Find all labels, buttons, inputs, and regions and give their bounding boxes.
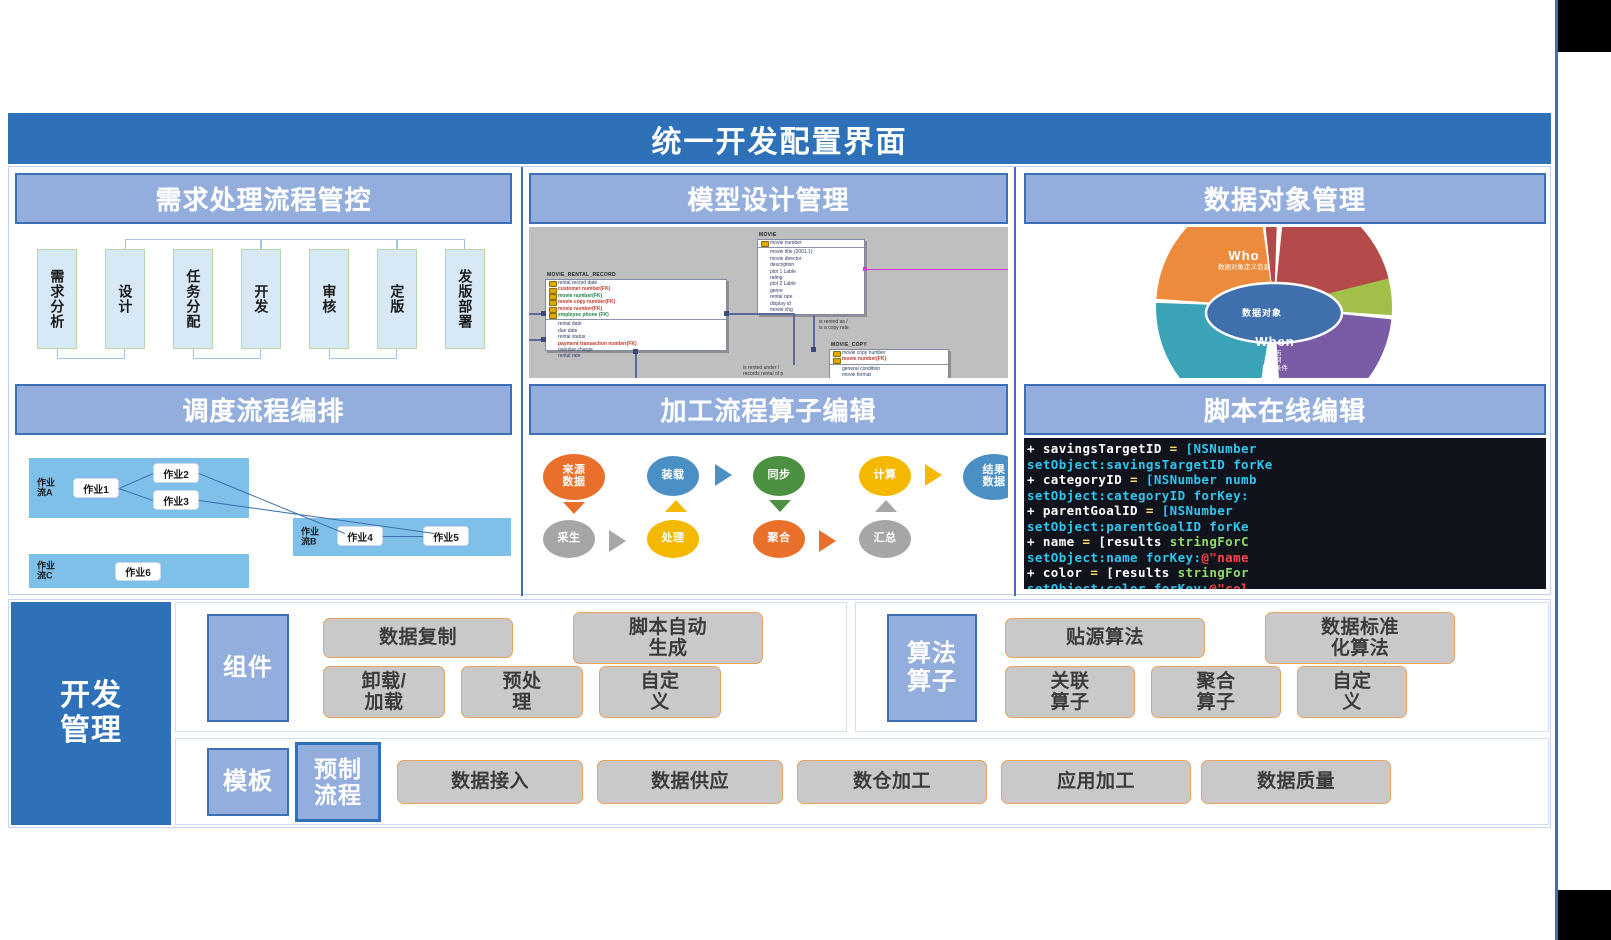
- dev-item-label: 数据复制: [379, 627, 457, 648]
- top-panels: 需求处理流程管控 需求分析设计任务分配开发审核定版发版部署 调度流程编排 作业流…: [8, 166, 1551, 595]
- dev-category-label: 组件: [223, 654, 273, 682]
- code-token: [NSNumber: [1162, 503, 1233, 518]
- code-line-1: + savingsTargetID = [NSNumber: [1027, 441, 1546, 457]
- code-token: @"col: [1209, 581, 1249, 590]
- job-flow: 作业流A作业流B作业流C作业1作业2作业3作业4作业5作业6: [15, 438, 512, 589]
- bottom-black-bar: [1558, 890, 1611, 940]
- dev-management-content: 组件数据复制脚本自动生成卸载/加载预处理自定义算法算子贴源算法数据标准化算法关联…: [175, 602, 1549, 825]
- er-key-field: movie number: [758, 240, 864, 246]
- operator-node-label: 聚合: [768, 533, 791, 545]
- section-header-requirement[interactable]: 需求处理流程管控: [15, 173, 512, 224]
- job-flow-group-label: 作业流B: [301, 527, 327, 548]
- dev-item-pill[interactable]: 自定义: [599, 666, 721, 718]
- requirement-step-1[interactable]: 需求分析: [37, 249, 77, 349]
- pie-center-label: 数据对象: [1242, 306, 1282, 319]
- requirement-connector: [125, 239, 261, 249]
- requirement-connector: [57, 349, 125, 359]
- code-token: +: [1027, 472, 1043, 487]
- dev-item-pill[interactable]: 脚本自动生成: [573, 612, 763, 664]
- section-header-operator[interactable]: 加工流程算子编辑: [529, 384, 1008, 435]
- code-token: parentGoalID: [1043, 503, 1138, 518]
- dev-subcategory-label: 预制流程: [314, 756, 362, 809]
- dev-item-label: 数据标准化算法: [1321, 617, 1399, 660]
- dev-item-label: 关联算子: [1050, 671, 1089, 714]
- job-flow-group-A[interactable]: 作业流A: [29, 458, 249, 518]
- code-token: +: [1027, 503, 1043, 518]
- requirement-step-7[interactable]: 发版部署: [445, 249, 485, 349]
- requirement-connector: [261, 239, 397, 249]
- column-model: 模型设计管理 MOVIE_RENTAL_RECORDrental record …: [521, 167, 1016, 596]
- requirement-flow: 需求分析设计任务分配开发审核定版发版部署: [15, 227, 512, 378]
- code-line-9: + color = [results stringFor: [1027, 565, 1546, 581]
- requirement-step-label: 开发: [254, 284, 269, 314]
- requirement-step-label: 定版: [390, 284, 405, 314]
- data-object-pie-canvas: 数据对象Who数据对象定义信息What数据构成数据用法数据对象加工加工血缘图Wh…: [1024, 227, 1546, 378]
- job-flow-edge: [383, 536, 423, 537]
- dev-item-pill[interactable]: 贴源算法: [1005, 618, 1205, 658]
- pie-chart-svg: [1024, 227, 1524, 378]
- requirement-step-label: 审核: [322, 284, 337, 314]
- operator-node-7[interactable]: 计算: [859, 456, 911, 496]
- job-node-2[interactable]: 作业2: [153, 463, 199, 483]
- code-token: +: [1027, 534, 1043, 549]
- dev-template-label: 数据接入: [451, 771, 529, 792]
- code-line-3: + categoryID = [NSNumber numb: [1027, 472, 1546, 488]
- code-line-8: setObject:name forKey:@"name: [1027, 550, 1546, 566]
- code-token: categoryID: [1043, 472, 1122, 487]
- er-table[interactable]: movie numbermovie title (2001.1)movie di…: [757, 239, 865, 315]
- operator-node-label: 同步: [768, 470, 791, 482]
- operator-node-label: 来源数据: [563, 465, 586, 488]
- code-line-2: setObject:savingsTargetID forKe: [1027, 457, 1546, 473]
- code-token: =: [1122, 472, 1146, 487]
- code-token: setObject:name forKey:: [1027, 550, 1201, 565]
- requirement-step-label: 设计: [118, 284, 133, 314]
- operator-arrow-right: [609, 530, 626, 552]
- dev-category-2[interactable]: 算法算子: [887, 614, 977, 722]
- requirement-step-6[interactable]: 定版: [377, 249, 417, 349]
- code-token: +: [1027, 565, 1043, 580]
- operator-flow-canvas: 来源数据采生装载处理同步聚合计算汇总结果数据: [529, 438, 1008, 589]
- operator-flow: 来源数据采生装载处理同步聚合计算汇总结果数据: [529, 438, 1008, 589]
- dev-template-label: 数据供应: [651, 771, 729, 792]
- section-header-dataobject[interactable]: 数据对象管理: [1024, 173, 1546, 224]
- dev-template-pill[interactable]: 数据供应: [597, 760, 783, 804]
- operator-node-label: 装载: [662, 470, 685, 482]
- requirement-step-5[interactable]: 审核: [309, 249, 349, 349]
- er-table-title: MOVIE_COPY: [831, 342, 867, 348]
- dev-item-label: 脚本自动生成: [629, 617, 707, 660]
- operator-node-4[interactable]: 处理: [647, 520, 699, 558]
- operator-arrow-down: [563, 502, 585, 514]
- dev-category-label: 模板: [223, 768, 273, 796]
- dev-management-panel: 开发管理 组件数据复制脚本自动生成卸载/加载预处理自定义算法算子贴源算法数据标准…: [8, 599, 1551, 828]
- diagram-frame: 统一开发配置界面 需求处理流程管控 需求分析设计任务分配开发审核定版发版部署 调…: [8, 113, 1551, 828]
- er-connector-dot: [541, 311, 546, 316]
- code-line-6: setObject:parentGoalID forKe: [1027, 519, 1546, 535]
- dev-item-pill[interactable]: 数据标准化算法: [1265, 612, 1455, 664]
- operator-node-1[interactable]: 来源数据: [543, 454, 605, 500]
- er-relationship-line: [635, 351, 637, 378]
- job-flow-canvas: 作业流A作业流B作业流C作业1作业2作业3作业4作业5作业6: [15, 438, 512, 589]
- column-requirement: 需求处理流程管控 需求分析设计任务分配开发审核定版发版部署 调度流程编排 作业流…: [9, 167, 518, 596]
- code-token: setObject:savingsTargetID forKe: [1027, 457, 1273, 472]
- operator-node-label: 计算: [874, 470, 897, 482]
- section-header-model[interactable]: 模型设计管理: [529, 173, 1008, 224]
- er-diagram: MOVIE_RENTAL_RECORDrental record datecus…: [529, 227, 1008, 378]
- dev-item-pill[interactable]: 数据复制: [323, 618, 513, 658]
- script-code-editor[interactable]: + savingsTargetID = [NSNumbersetObject:s…: [1024, 438, 1546, 589]
- code-token: +: [1027, 441, 1043, 456]
- er-separator: [758, 247, 864, 248]
- code-token: setObject:parentGoalID forKe: [1027, 519, 1249, 534]
- er-table-title: MOVIE: [759, 232, 777, 238]
- operator-node-label: 采生: [558, 533, 581, 545]
- main-header-title: 统一开发配置界面: [652, 117, 908, 161]
- er-key-field: movie number(FK): [830, 356, 948, 362]
- er-table[interactable]: rental record datecustomer number(FK)mov…: [545, 279, 727, 351]
- code-token: =: [1083, 565, 1107, 580]
- job-flow-group-label: 作业流A: [37, 478, 63, 499]
- section-title-requirement: 需求处理流程管控: [155, 180, 371, 217]
- code-token: stringFor: [1178, 565, 1249, 580]
- er-connector-dot: [541, 337, 546, 342]
- er-separator: [830, 364, 948, 365]
- code-line-4: setObject:categoryID forKey:: [1027, 488, 1546, 504]
- requirement-step-4[interactable]: 开发: [241, 249, 281, 349]
- requirement-step-label: 任务分配: [186, 269, 201, 329]
- er-edge-label: is rented under /records rental of p: [743, 365, 783, 377]
- operator-arrow-right: [925, 464, 942, 486]
- requirement-step-2[interactable]: 设计: [105, 249, 145, 349]
- er-key-field: employee phone (FK): [546, 312, 726, 318]
- dev-item-label: 自定义: [1332, 671, 1371, 714]
- dev-template-pill[interactable]: 数仓加工: [797, 760, 987, 804]
- dev-item-pill[interactable]: 聚合算子: [1151, 666, 1281, 718]
- right-edge-line: [1555, 0, 1558, 940]
- er-connector-dot: [811, 347, 816, 352]
- operator-arrow-right: [819, 530, 836, 552]
- er-magenta-line: [865, 269, 1008, 270]
- code-token: [NSNumber numb: [1146, 472, 1257, 487]
- section-header-schedule[interactable]: 调度流程编排: [15, 384, 512, 435]
- job-node-3[interactable]: 作业3: [153, 490, 199, 510]
- job-node-4[interactable]: 作业4: [337, 526, 383, 546]
- dev-category-label: 算法算子: [907, 640, 957, 695]
- operator-arrow-right: [715, 464, 732, 486]
- code-token: [NSNumber: [1186, 441, 1257, 456]
- operator-arrow-up: [875, 500, 897, 512]
- code-token: setObject:categoryID forKey:: [1027, 488, 1249, 503]
- code-token: setObject:color forKey:: [1027, 581, 1209, 590]
- requirement-step-label: 发版部署: [458, 269, 473, 329]
- dev-item-pill[interactable]: 关联算子: [1005, 666, 1135, 718]
- code-token: savingsTargetID: [1043, 441, 1162, 456]
- script-editor-canvas: + savingsTargetID = [NSNumbersetObject:s…: [1024, 438, 1546, 589]
- dev-template-pill[interactable]: 数据接入: [397, 760, 583, 804]
- code-token: name: [1043, 534, 1075, 549]
- code-token: color: [1043, 565, 1083, 580]
- dev-template-pill[interactable]: 应用加工: [1001, 760, 1191, 804]
- dev-item-pill[interactable]: 自定义: [1297, 666, 1407, 718]
- operator-arrow-down: [769, 500, 791, 512]
- er-relationship-line: [727, 313, 795, 315]
- requirement-connector: [397, 239, 465, 249]
- requirement-flow-canvas: 需求分析设计任务分配开发审核定版发版部署: [15, 227, 512, 378]
- code-token: =: [1162, 441, 1186, 456]
- code-line-7: + name = [results stringForC: [1027, 534, 1546, 550]
- requirement-step-3[interactable]: 任务分配: [173, 249, 213, 349]
- data-object-pie-chart: 数据对象Who数据对象定义信息What数据构成数据用法数据对象加工加工血缘图Wh…: [1024, 227, 1546, 378]
- code-line-5: + parentGoalID = [NSNumber: [1027, 503, 1546, 519]
- er-connector-dot: [724, 311, 729, 316]
- dev-template-label: 应用加工: [1057, 771, 1135, 792]
- section-title-operator: 加工流程算子编辑: [660, 391, 876, 428]
- job-node-6[interactable]: 作业6: [115, 562, 161, 581]
- code-token: =: [1138, 503, 1162, 518]
- dev-item-label: 自定义: [640, 671, 679, 714]
- section-title-script: 脚本在线编辑: [1204, 391, 1366, 428]
- code-token: stringForC: [1170, 534, 1249, 549]
- section-title-schedule: 调度流程编排: [182, 391, 344, 428]
- code-token: =: [1075, 534, 1099, 549]
- er-connector-dot: [633, 349, 638, 354]
- operator-node-label: 处理: [662, 533, 685, 545]
- dev-item-label: 卸载/加载: [362, 671, 407, 714]
- section-header-script[interactable]: 脚本在线编辑: [1024, 384, 1546, 435]
- er-relationship-line: [793, 313, 795, 365]
- section-title-model: 模型设计管理: [687, 180, 849, 217]
- operator-node-2[interactable]: 采生: [543, 520, 595, 558]
- dev-template-label: 数仓加工: [853, 771, 931, 792]
- operator-node-5[interactable]: 同步: [753, 456, 805, 496]
- dev-category-template[interactable]: 模板: [207, 748, 289, 816]
- slide-root: 统一开发配置界面 需求处理流程管控 需求分析设计任务分配开发审核定版发版部署 调…: [0, 0, 1611, 940]
- operator-node-8[interactable]: 汇总: [859, 520, 911, 558]
- job-node-5[interactable]: 作业5: [423, 526, 469, 546]
- er-edge-label: is rented as /is a copy rate: [819, 319, 849, 331]
- dev-item-label: 聚合算子: [1196, 671, 1235, 714]
- job-flow-group-B[interactable]: 作业流B: [293, 518, 511, 556]
- operator-node-label: 汇总: [874, 533, 897, 545]
- requirement-step-label: 需求分析: [50, 269, 65, 329]
- dev-category-1[interactable]: 组件: [207, 614, 289, 722]
- main-header: 统一开发配置界面: [8, 113, 1551, 164]
- dev-title-lines: 开发管理: [60, 679, 122, 748]
- job-node-1[interactable]: 作业1: [73, 478, 119, 498]
- code-token: @"name: [1201, 550, 1249, 565]
- dev-subcategory-preset-flow[interactable]: 预制流程: [295, 742, 381, 822]
- er-diagram-canvas: MOVIE_RENTAL_RECORDrental record datecus…: [529, 227, 1008, 378]
- er-field: movie format: [830, 372, 948, 378]
- operator-node-6[interactable]: 聚合: [753, 520, 805, 558]
- dev-template-pill[interactable]: 数据质量: [1201, 760, 1391, 804]
- job-flow-group-label: 作业流C: [37, 561, 63, 582]
- operator-node-9[interactable]: 结果数据: [963, 454, 1008, 500]
- code-token: [results: [1106, 565, 1177, 580]
- er-relationship-line: [813, 315, 815, 349]
- dev-item-pill[interactable]: 卸载/加载: [323, 666, 445, 718]
- code-token: [results: [1098, 534, 1169, 549]
- er-table[interactable]: movie copy numbermovie number(FK)general…: [829, 349, 949, 378]
- top-black-bar: [1558, 0, 1611, 52]
- er-separator: [546, 319, 726, 320]
- dev-item-label: 贴源算法: [1066, 627, 1144, 648]
- dev-template-label: 数据质量: [1257, 771, 1335, 792]
- column-dataobject: 数据对象管理 数据对象Who数据对象定义信息What数据构成数据用法数据对象加工…: [1018, 167, 1552, 596]
- requirement-connector: [329, 349, 397, 359]
- operator-arrow-up: [665, 500, 687, 512]
- code-line-10: setObject:color forKey:@"col: [1027, 581, 1546, 590]
- dev-management-title: 开发管理: [11, 602, 171, 825]
- requirement-connector: [193, 349, 261, 359]
- operator-node-3[interactable]: 装载: [647, 456, 699, 496]
- dev-item-pill[interactable]: 预处理: [461, 666, 583, 718]
- er-magenta-dot: [863, 267, 867, 271]
- operator-node-label: 结果数据: [983, 465, 1006, 488]
- section-title-dataobject: 数据对象管理: [1204, 180, 1366, 217]
- er-table-title: MOVIE_RENTAL_RECORD: [547, 272, 616, 278]
- dev-item-label: 预处理: [502, 671, 541, 714]
